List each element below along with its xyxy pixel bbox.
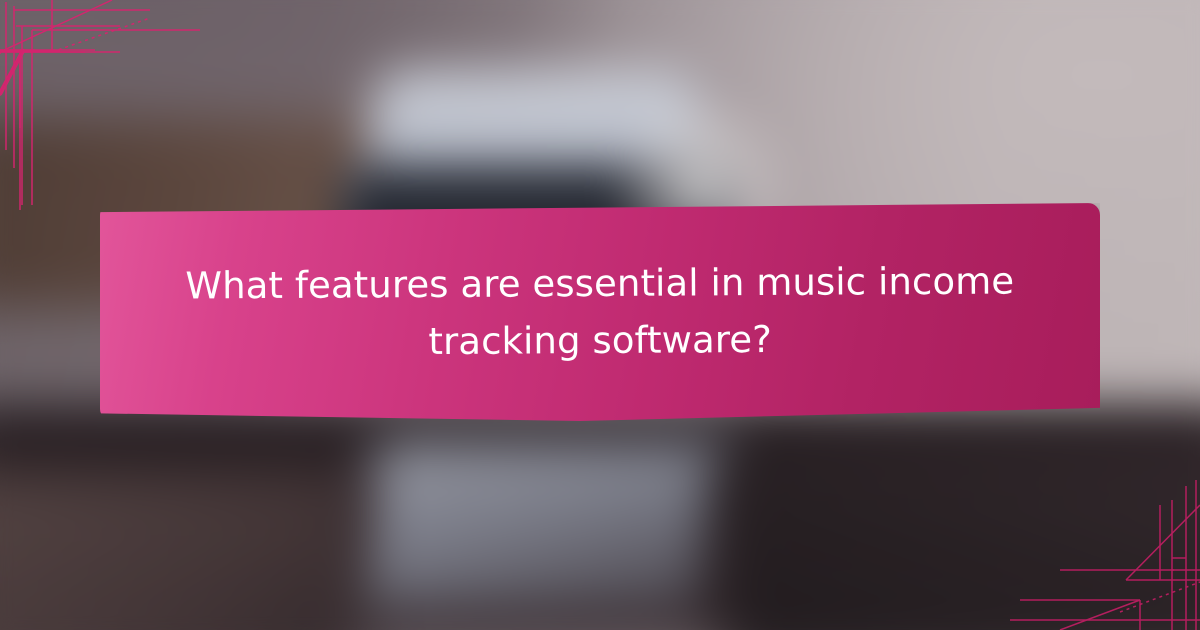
headline-text-block: What features are essential in music inc… <box>99 200 1100 424</box>
background-floor-left <box>0 470 360 630</box>
headline-line-2: tracking software? <box>428 311 772 370</box>
background-foreground-device <box>347 440 734 610</box>
background-floor-right <box>720 440 1200 630</box>
headline-line-1: What features are essential in music inc… <box>185 252 1014 314</box>
promo-banner-canvas: What features are essential in music inc… <box>0 0 1200 630</box>
